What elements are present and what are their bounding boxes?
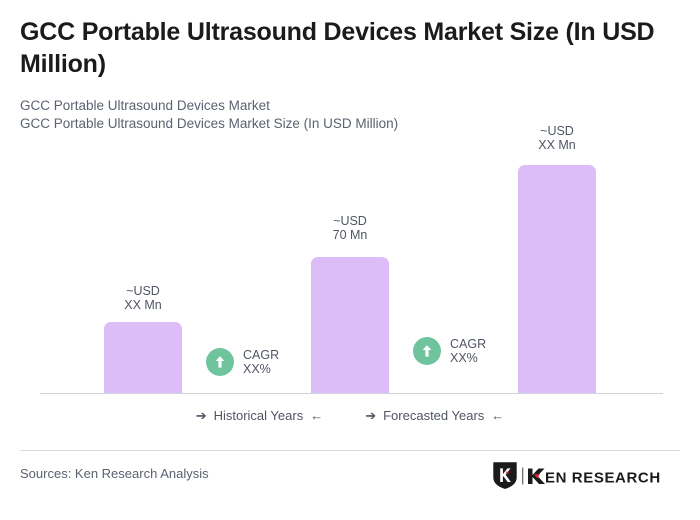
arrow-left-icon: ← <box>310 409 323 422</box>
bar-value-label-3-line1: ~USD <box>517 124 597 138</box>
cagr-badge-1-text: CAGR XX% <box>243 348 279 376</box>
arrow-right-icon: ➔ <box>365 409 376 422</box>
chart-baseline <box>40 393 663 394</box>
arrow-left-icon: ← <box>491 409 504 422</box>
legend-item-forecasted-years-label: Forecasted Years <box>383 408 484 423</box>
bar-1[interactable] <box>104 322 182 393</box>
sources-note: Sources: Ken Research Analysis <box>20 466 209 481</box>
arrow-up-icon <box>206 348 234 376</box>
bar-value-label-3-line2: XX Mn <box>517 138 597 152</box>
cagr-badge-2-line2: XX% <box>450 351 486 365</box>
cagr-badge-1-line2: XX% <box>243 362 279 376</box>
ken-research-logo: EN RESEARCH <box>493 462 678 489</box>
bar-value-label-1-line2: XX Mn <box>103 298 183 312</box>
svg-text:EN RESEARCH: EN RESEARCH <box>545 469 661 486</box>
legend-item-forecasted-years: ➔ Forecasted Years ← <box>365 408 504 423</box>
period-legend: ➔ Historical Years ← ➔ Forecasted Years … <box>0 408 700 423</box>
bar-2[interactable] <box>311 257 389 393</box>
bar-value-label-2-line1: ~USD <box>310 214 390 228</box>
arrow-up-icon <box>413 337 441 365</box>
cagr-badge-2-text: CAGR XX% <box>450 337 486 365</box>
legend-item-historical-years-label: Historical Years <box>214 408 304 423</box>
bar-value-label-1-line1: ~USD <box>103 284 183 298</box>
cagr-badge-2: CAGR XX% <box>413 337 486 365</box>
bar-value-label-2-line2: 70 Mn <box>310 228 390 242</box>
bar-3[interactable] <box>518 165 596 393</box>
footer-divider <box>20 450 680 451</box>
bar-value-label-1: ~USD XX Mn <box>103 284 183 312</box>
cagr-badge-2-line1: CAGR <box>450 337 486 351</box>
bar-value-label-3: ~USD XX Mn <box>517 124 597 152</box>
cagr-badge-1-line1: CAGR <box>243 348 279 362</box>
infographic-page: GCC Portable Ultrasound Devices Market S… <box>0 0 700 520</box>
arrow-right-icon: ➔ <box>196 409 207 422</box>
shield-logo-icon <box>493 462 517 489</box>
legend-item-historical-years: ➔ Historical Years ← <box>196 408 324 423</box>
cagr-badge-1: CAGR XX% <box>206 348 279 376</box>
bar-chart: ~USD XX Mn CAGR XX% ~USD 70 Mn <box>0 0 700 400</box>
bar-value-label-2: ~USD 70 Mn <box>310 214 390 242</box>
logo-wordmark: EN RESEARCH <box>522 466 678 486</box>
